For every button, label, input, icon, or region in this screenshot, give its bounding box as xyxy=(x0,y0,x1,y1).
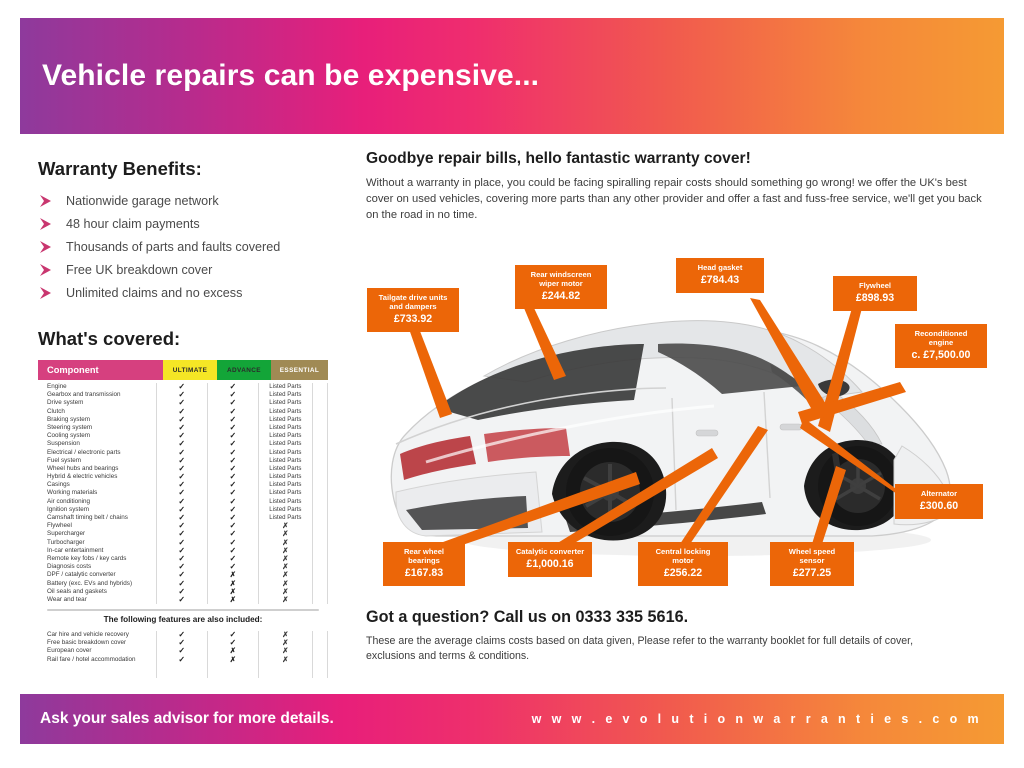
cell-essential: Listed Parts xyxy=(259,498,313,506)
cell-component-name: Clutch xyxy=(38,408,157,416)
cell-essential: Listed Parts xyxy=(259,408,313,416)
cell-tail xyxy=(313,399,328,407)
callout-label: Central locking motor xyxy=(645,547,721,565)
intro-heading: Goodbye repair bills, hello fantastic wa… xyxy=(366,150,996,168)
benefit-label: 48 hour claim payments xyxy=(66,217,200,231)
cell-component-name: Air conditioning xyxy=(38,498,157,506)
cell-tail xyxy=(313,481,328,489)
cell-tail xyxy=(313,440,328,448)
cell-component-name: Free basic breakdown cover xyxy=(38,639,157,647)
benefit-item: 48 hour claim payments xyxy=(38,217,338,231)
cell-essential: Listed Parts xyxy=(259,416,313,424)
cell-essential: Listed Parts xyxy=(259,383,313,391)
cell-component-name: Turbocharger xyxy=(38,539,157,547)
callout-reconditioned-engine: Reconditioned engine c. £7,500.00 xyxy=(895,324,987,368)
cell-tail xyxy=(313,596,328,604)
callout-price: £167.83 xyxy=(390,567,458,580)
cell-component-name: Cooling system xyxy=(38,432,157,440)
cell-component-name: Battery (exc. EVs and hybrids) xyxy=(38,580,157,588)
chevron-right-icon xyxy=(38,286,56,300)
cell-tail xyxy=(313,522,328,530)
footer-banner: Ask your sales advisor for more details.… xyxy=(20,694,1004,744)
callout-label: Tailgate drive units and dampers xyxy=(374,293,452,311)
cell-component-name: Electrical / electronic parts xyxy=(38,449,157,457)
callout-price: c. £7,500.00 xyxy=(902,349,980,362)
cell-tail xyxy=(313,391,328,399)
benefit-item: Free UK breakdown cover xyxy=(38,263,338,277)
callout-alternator: Alternator £300.60 xyxy=(895,484,983,519)
cell-component-name: Gearbox and transmission xyxy=(38,391,157,399)
cell-tail xyxy=(313,473,328,481)
cell-essential: ✗ xyxy=(259,596,313,604)
extras-heading: The following features are also included… xyxy=(38,615,328,624)
cell-essential: Listed Parts xyxy=(259,473,313,481)
chevron-right-icon xyxy=(38,263,56,277)
cell-ultimate: ✓ xyxy=(157,596,208,604)
cell-component-name: Engine xyxy=(38,383,157,391)
cell-tail xyxy=(313,416,328,424)
cell-tail xyxy=(313,506,328,514)
cell-component-name: DPF / catalytic converter xyxy=(38,571,157,579)
whats-covered-heading: What's covered: xyxy=(38,328,338,350)
callout-catalytic-converter: Catalytic converter £1,000.16 xyxy=(508,542,592,577)
callout-central-locking-motor: Central locking motor £256.22 xyxy=(638,542,728,586)
callout-head-gasket: Head gasket £784.43 xyxy=(676,258,764,293)
benefit-label: Thousands of parts and faults covered xyxy=(66,240,280,254)
cell-tail xyxy=(313,563,328,571)
benefit-item: Thousands of parts and faults covered xyxy=(38,240,338,254)
cell-tail xyxy=(313,432,328,440)
coverage-table-body: Engine✓✓Listed PartsGearbox and transmis… xyxy=(38,380,328,604)
callout-label: Alternator xyxy=(902,489,976,498)
cell-component-name: Hybrid & electric vehicles xyxy=(38,473,157,481)
cell-tail xyxy=(313,656,328,664)
cell-tail xyxy=(313,588,328,596)
callout-price: £784.43 xyxy=(683,274,757,287)
table-row: Wear and tear✓✗✗ xyxy=(38,596,328,604)
column-header-advance: ADVANCE xyxy=(217,360,271,380)
cell-essential: Listed Parts xyxy=(259,449,313,457)
benefit-label: Nationwide garage network xyxy=(66,194,219,208)
cell-tail xyxy=(313,530,328,538)
callout-price: £898.93 xyxy=(840,292,910,305)
cell-essential: Listed Parts xyxy=(259,399,313,407)
column-header-component: Component xyxy=(38,360,163,380)
cell-essential: Listed Parts xyxy=(259,457,313,465)
callout-label: Wheel speed sensor xyxy=(777,547,847,565)
cell-tail xyxy=(313,647,328,655)
benefit-label: Free UK breakdown cover xyxy=(66,263,212,277)
right-column: Goodbye repair bills, hello fantastic wa… xyxy=(366,150,996,224)
contact-heading: Got a question? Call us on 0333 335 5616… xyxy=(366,608,926,627)
cell-essential: Listed Parts xyxy=(259,440,313,448)
table-footer-spacer xyxy=(38,664,328,678)
cell-component-name: European cover xyxy=(38,647,157,655)
cell-component-name: Wheel hubs and bearings xyxy=(38,465,157,473)
coverage-table-header: Component ULTIMATE ADVANCE ESSENTIAL xyxy=(38,360,328,380)
benefits-list: Nationwide garage network 48 hour claim … xyxy=(38,194,338,300)
cell-essential: ✗ xyxy=(259,656,313,664)
table-row: Rail fare / hotel accommodation✓✗✗ xyxy=(38,656,328,664)
cell-essential: Listed Parts xyxy=(259,481,313,489)
cell-tail xyxy=(313,465,328,473)
cell-component-name: Flywheel xyxy=(38,522,157,530)
cell-component-name: Rail fare / hotel accommodation xyxy=(38,656,157,664)
disclaimer-text: These are the average claims costs based… xyxy=(366,634,926,665)
cell-component-name: Camshaft timing belt / chains xyxy=(38,514,157,522)
intro-body: Without a warranty in place, you could b… xyxy=(366,176,996,224)
cell-component-name: Remote key fobs / key cards xyxy=(38,555,157,563)
footer-cta: Ask your sales advisor for more details. xyxy=(20,710,334,728)
callout-price: £1,000.16 xyxy=(515,558,585,571)
cell-advance: ✗ xyxy=(208,596,259,604)
cell-tail xyxy=(313,383,328,391)
cell-tail xyxy=(313,580,328,588)
benefit-label: Unlimited claims and no excess xyxy=(66,286,242,300)
chevron-right-icon xyxy=(38,240,56,254)
cell-advance: ✗ xyxy=(208,656,259,664)
poster-page: Vehicle repairs can be expensive... Warr… xyxy=(0,0,1024,768)
footer-website[interactable]: w w w . e v o l u t i o n w a r r a n t … xyxy=(532,712,1004,726)
callout-flywheel: Flywheel £898.93 xyxy=(833,276,917,311)
page-title: Vehicle repairs can be expensive... xyxy=(20,59,539,93)
cell-essential: Listed Parts xyxy=(259,489,313,497)
cell-tail xyxy=(313,547,328,555)
cell-component-name: Fuel system xyxy=(38,457,157,465)
cell-tail xyxy=(313,457,328,465)
column-header-ultimate: ULTIMATE xyxy=(163,360,217,380)
chevron-right-icon xyxy=(38,194,56,208)
cell-tail xyxy=(313,639,328,647)
coverage-table: Component ULTIMATE ADVANCE ESSENTIAL Eng… xyxy=(38,360,328,678)
callout-price: £733.92 xyxy=(374,313,452,326)
column-header-essential: ESSENTIAL xyxy=(271,360,328,380)
cell-component-name: In-car entertainment xyxy=(38,547,157,555)
cell-tail xyxy=(313,571,328,579)
cell-component-name: Working materials xyxy=(38,489,157,497)
cell-component-name: Braking system xyxy=(38,416,157,424)
cell-tail xyxy=(313,489,328,497)
callout-label: Rear wheel bearings xyxy=(390,547,458,565)
cell-component-name: Casings xyxy=(38,481,157,489)
callout-price: £277.25 xyxy=(777,567,847,580)
callout-label: Catalytic converter xyxy=(515,547,585,556)
cell-tail xyxy=(313,555,328,563)
cell-tail xyxy=(313,424,328,432)
cell-tail xyxy=(313,408,328,416)
cell-component-name: Ignition system xyxy=(38,506,157,514)
header-banner: Vehicle repairs can be expensive... xyxy=(20,18,1004,134)
benefit-item: Nationwide garage network xyxy=(38,194,338,208)
cell-tail xyxy=(313,449,328,457)
callout-price: £244.82 xyxy=(522,290,600,303)
extras-table-body: Car hire and vehicle recovery✓✓✗Free bas… xyxy=(38,628,328,664)
callout-label: Reconditioned engine xyxy=(902,329,980,347)
cell-component-name: Car hire and vehicle recovery xyxy=(38,631,157,639)
benefit-item: Unlimited claims and no excess xyxy=(38,286,338,300)
callout-wheel-speed-sensor: Wheel speed sensor £277.25 xyxy=(770,542,854,586)
callout-label: Head gasket xyxy=(683,263,757,272)
callout-rear-wheel-bearings: Rear wheel bearings £167.83 xyxy=(383,542,465,586)
cell-tail xyxy=(313,514,328,522)
cell-essential: Listed Parts xyxy=(259,391,313,399)
cell-ultimate: ✓ xyxy=(157,656,208,664)
cell-component-name: Steering system xyxy=(38,424,157,432)
callout-price: £300.60 xyxy=(902,500,976,513)
table-divider xyxy=(47,609,319,611)
cell-component-name: Drive system xyxy=(38,399,157,407)
callout-label: Rear windscreen wiper motor xyxy=(522,270,600,288)
warranty-benefits-heading: Warranty Benefits: xyxy=(38,158,338,180)
cell-essential: Listed Parts xyxy=(259,424,313,432)
cell-essential: Listed Parts xyxy=(259,506,313,514)
cell-component-name: Supercharger xyxy=(38,530,157,538)
cell-component-name: Oil seals and gaskets xyxy=(38,588,157,596)
question-block: Got a question? Call us on 0333 335 5616… xyxy=(366,608,926,665)
cell-essential: Listed Parts xyxy=(259,432,313,440)
chevron-right-icon xyxy=(38,217,56,231)
cell-component-name: Diagnosis costs xyxy=(38,563,157,571)
cell-tail xyxy=(313,631,328,639)
callout-label: Flywheel xyxy=(840,281,910,290)
callout-rear-windscreen-wiper-motor: Rear windscreen wiper motor £244.82 xyxy=(515,265,607,309)
cell-tail xyxy=(313,498,328,506)
cell-component-name: Wear and tear xyxy=(38,596,157,604)
callout-price: £256.22 xyxy=(645,567,721,580)
callout-tailgate-drive-units: Tailgate drive units and dampers £733.92 xyxy=(367,288,459,332)
left-column: Warranty Benefits: Nationwide garage net… xyxy=(38,158,338,678)
cell-essential: Listed Parts xyxy=(259,465,313,473)
cell-tail xyxy=(313,539,328,547)
cell-component-name: Suspension xyxy=(38,440,157,448)
